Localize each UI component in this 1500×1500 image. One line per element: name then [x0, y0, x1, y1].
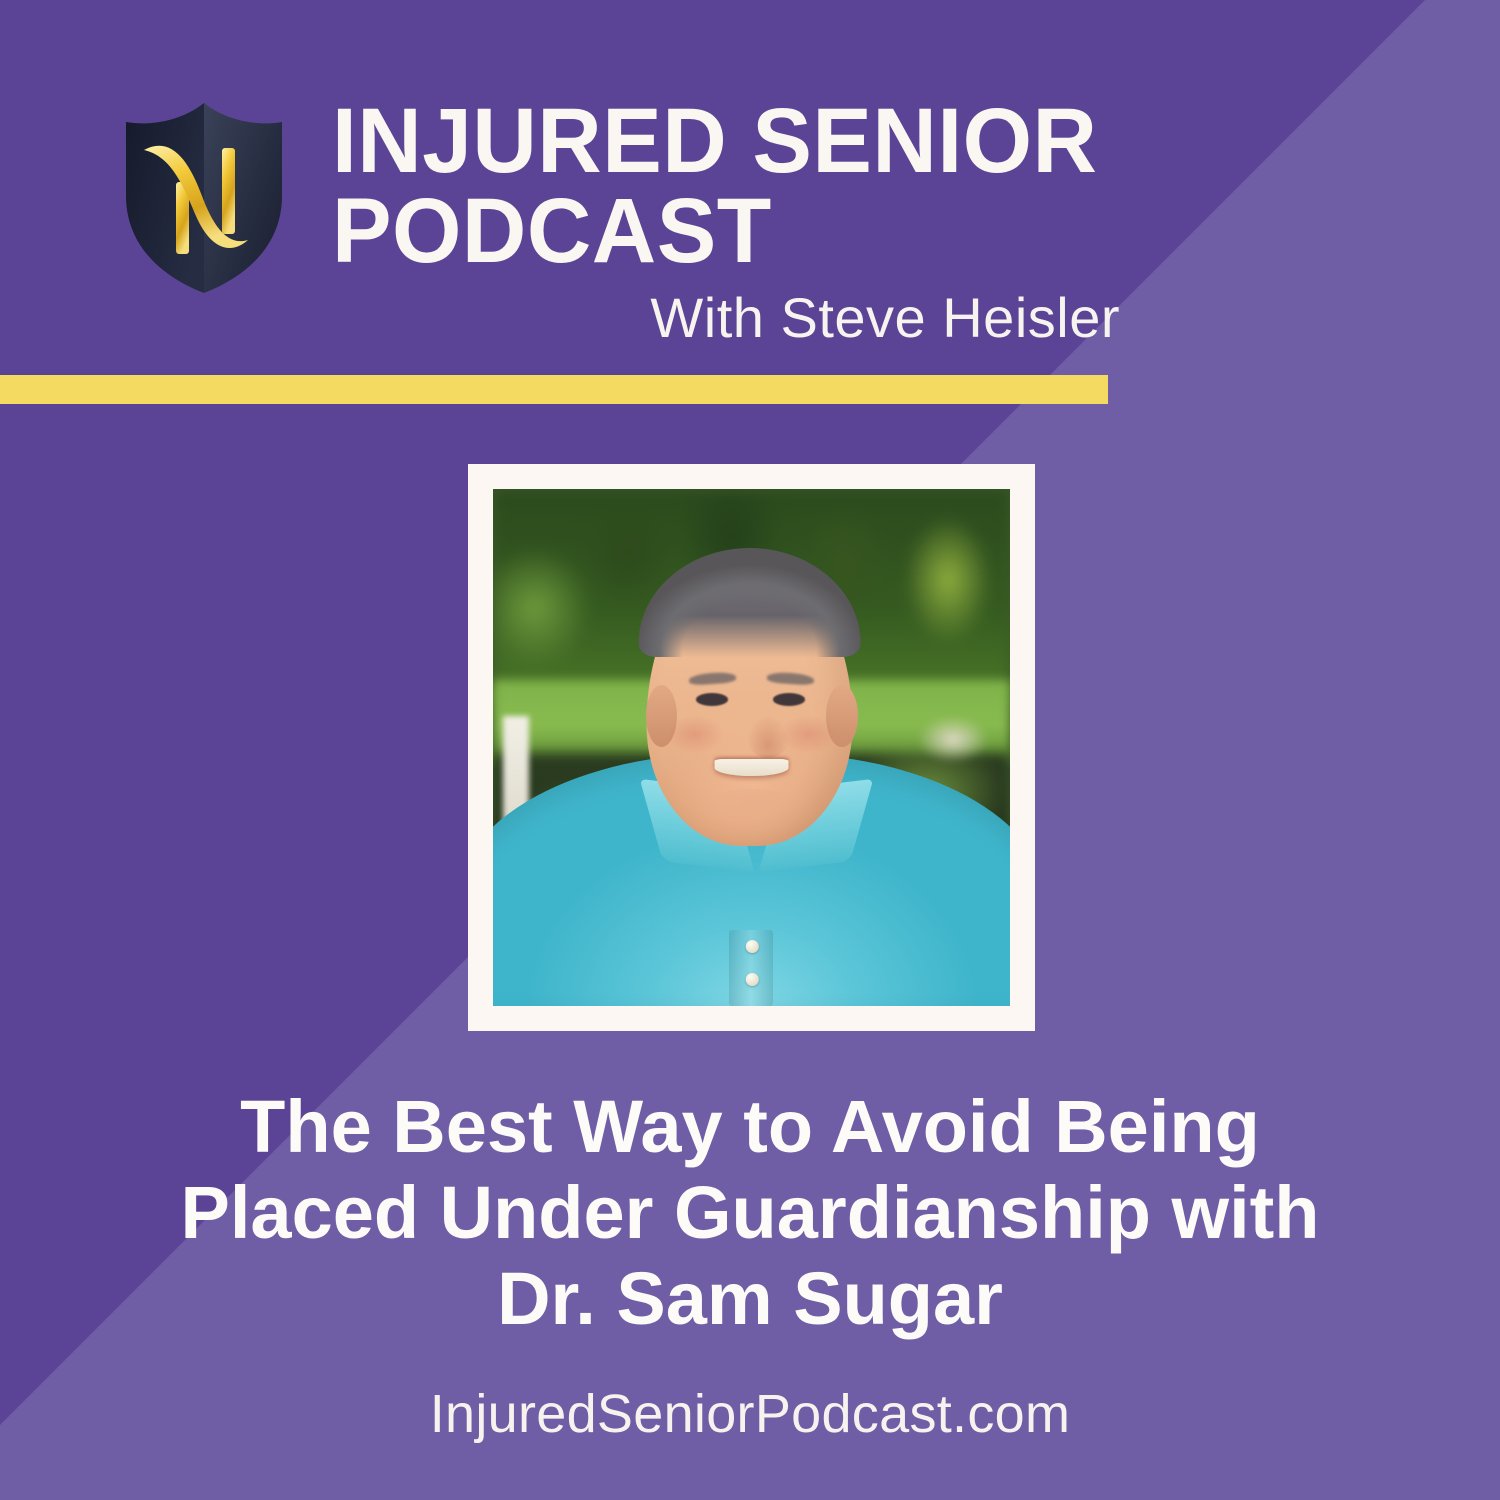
- cover-header: INJURED SENIOR PODCAST With Steve Heisle…: [0, 0, 1500, 375]
- guest-nose: [747, 716, 788, 757]
- guest-eye-right: [773, 693, 805, 705]
- shirt-button-top: [745, 940, 758, 953]
- episode-title: The Best Way to Avoid Being Placed Under…: [150, 1084, 1350, 1341]
- page-title: INJURED SENIOR PODCAST: [332, 96, 1244, 276]
- podcast-cover-art: INJURED SENIOR PODCAST With Steve Heisle…: [0, 0, 1500, 1500]
- brand-block: INJURED SENIOR PODCAST With Steve Heisle…: [332, 96, 1272, 346]
- guest-eye-left: [696, 693, 728, 705]
- shirt-button-bottom: [745, 973, 758, 986]
- guest-photo-frame: [468, 464, 1035, 1031]
- photo-background-rock: [917, 716, 989, 763]
- host-label: With Steve Heisler: [332, 290, 1272, 346]
- shield-icon: [118, 100, 290, 296]
- guest-smile: [714, 759, 789, 777]
- guest-cheek-left: [666, 716, 723, 752]
- divider-bar: [0, 375, 1108, 404]
- website-url: InjuredSeniorPodcast.com: [0, 1383, 1500, 1445]
- guest-photo: [493, 489, 1010, 1006]
